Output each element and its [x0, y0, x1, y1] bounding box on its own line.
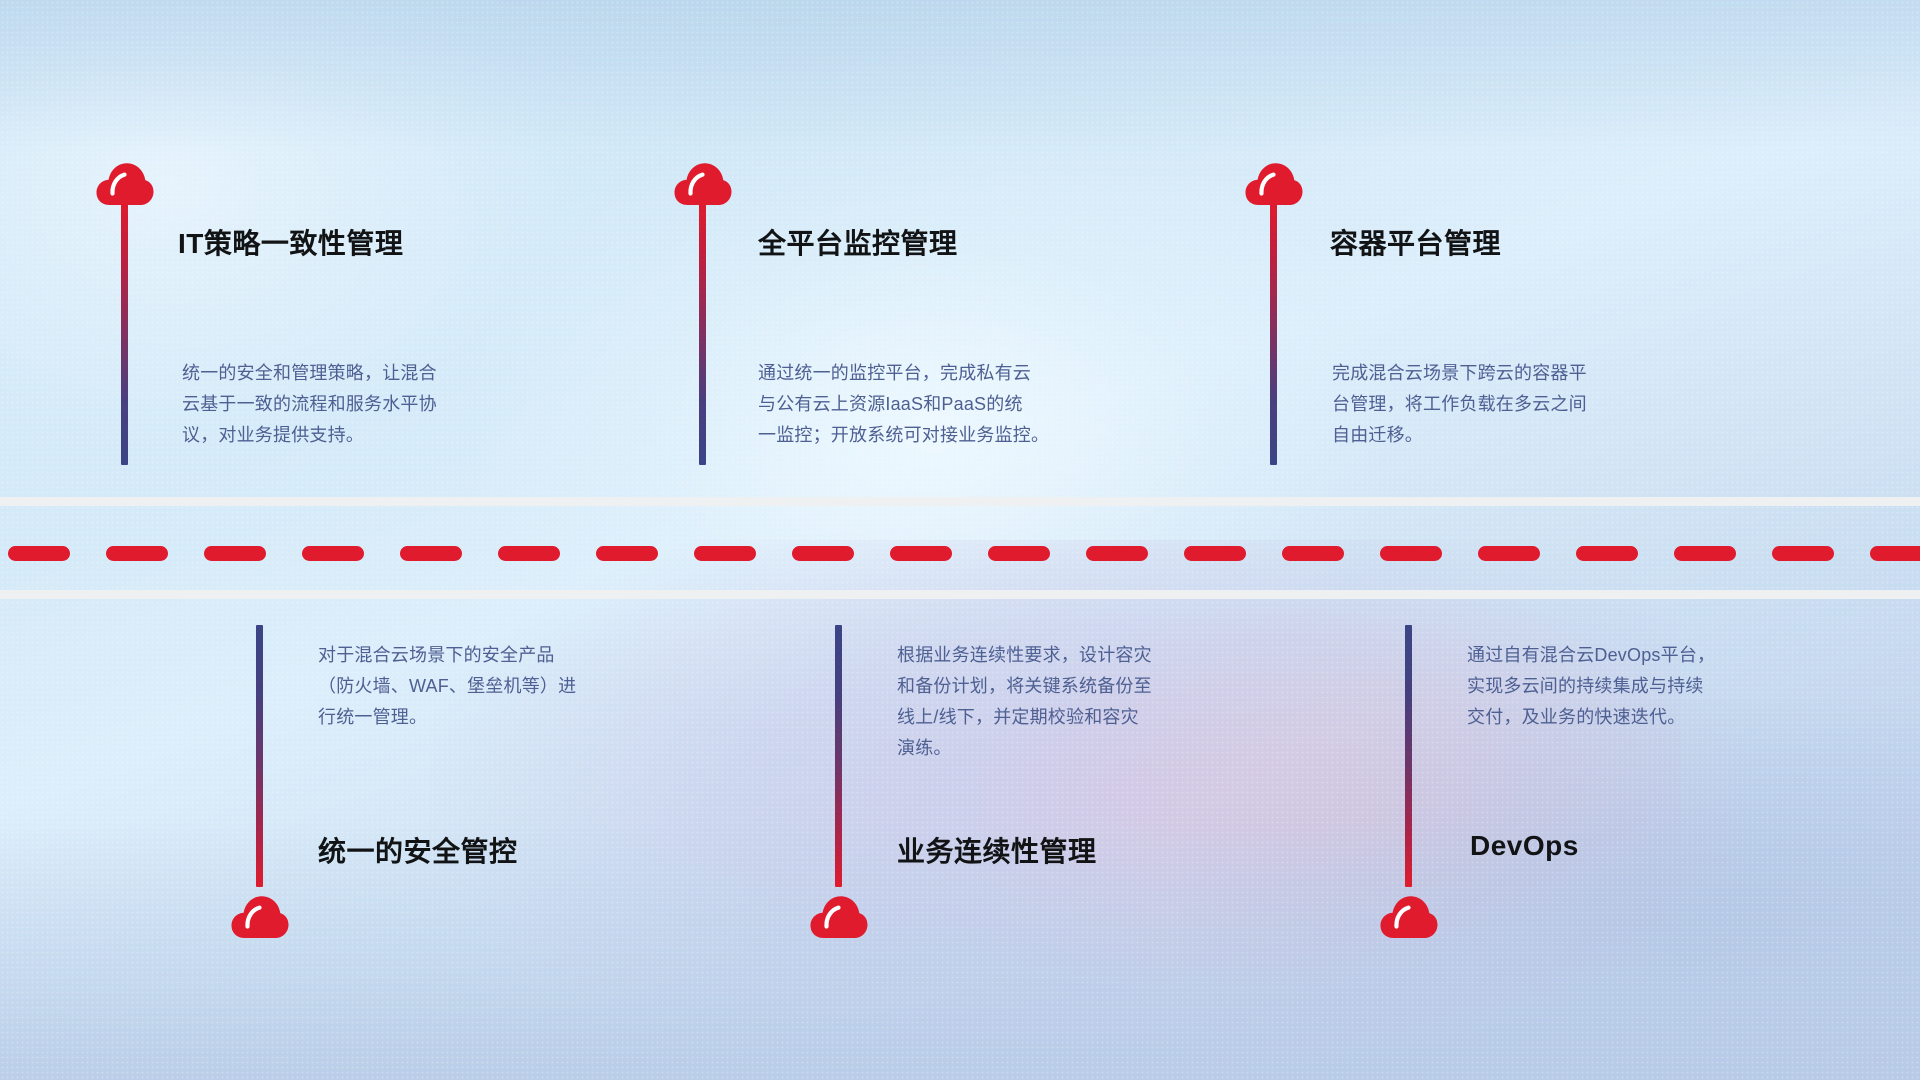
road-dash [302, 546, 364, 561]
road-dash [8, 546, 70, 561]
infographic-canvas: IT策略一致性管理 统一的安全和管理策略，让混合 云基于一致的流程和服务水平协 … [0, 0, 1920, 1080]
road-dash [890, 546, 952, 561]
road-dash [1772, 546, 1834, 561]
capability-description: 通过统一的监控平台，完成私有云 与公有云上资源IaaS和PaaS的统 一监控；开… [758, 358, 1228, 451]
capability-description: 根据业务连续性要求，设计容灾 和备份计划，将关键系统备份至 线上/线下，并定期校… [897, 640, 1337, 764]
capability-description: 对于混合云场景下的安全产品 （防火墙、WAF、堡垒机等）进 行统一管理。 [318, 640, 758, 733]
cloud-icon [96, 160, 154, 206]
capability-title: IT策略一致性管理 [178, 222, 403, 262]
road-dash [1674, 546, 1736, 561]
cloud-icon [674, 160, 732, 206]
cloud-icon [810, 893, 868, 939]
road-dash [792, 546, 854, 561]
capability-title: DevOps [1470, 830, 1579, 862]
capability-title: 业务连续性管理 [897, 830, 1097, 870]
road-dashed-centerline [0, 546, 1920, 561]
road-edge-top [0, 497, 1920, 506]
capability-description: 统一的安全和管理策略，让混合 云基于一致的流程和服务水平协 议，对业务提供支持。 [182, 358, 622, 451]
connector-line [699, 203, 706, 465]
connector-line [1405, 625, 1412, 887]
connector-line [121, 203, 128, 465]
road-dash [1184, 546, 1246, 561]
road-dash [1380, 546, 1442, 561]
road-dash [1086, 546, 1148, 561]
connector-line [1270, 203, 1277, 465]
connector-line [256, 625, 263, 887]
road-dash [1870, 546, 1920, 561]
road-dash [1282, 546, 1344, 561]
capability-description: 通过自有混合云DevOps平台， 实现多云间的持续集成与持续 交付，及业务的快速… [1467, 640, 1907, 733]
cloud-icon [1380, 893, 1438, 939]
cloud-icon [1245, 160, 1303, 206]
capability-title: 容器平台管理 [1330, 222, 1501, 262]
capability-title: 统一的安全管控 [318, 830, 518, 870]
road-dash [204, 546, 266, 561]
cloud-icon [231, 893, 289, 939]
road-dash [596, 546, 658, 561]
road-edge-bottom [0, 590, 1920, 599]
road-dash [498, 546, 560, 561]
road-dash [400, 546, 462, 561]
connector-line [835, 625, 842, 887]
capability-title: 全平台监控管理 [758, 222, 958, 262]
capability-description: 完成混合云场景下跨云的容器平 台管理，将工作负载在多云之间 自由迁移。 [1332, 358, 1772, 451]
road-dash [1576, 546, 1638, 561]
road-dash [694, 546, 756, 561]
road-dash [1478, 546, 1540, 561]
road-dash [988, 546, 1050, 561]
road-dash [106, 546, 168, 561]
